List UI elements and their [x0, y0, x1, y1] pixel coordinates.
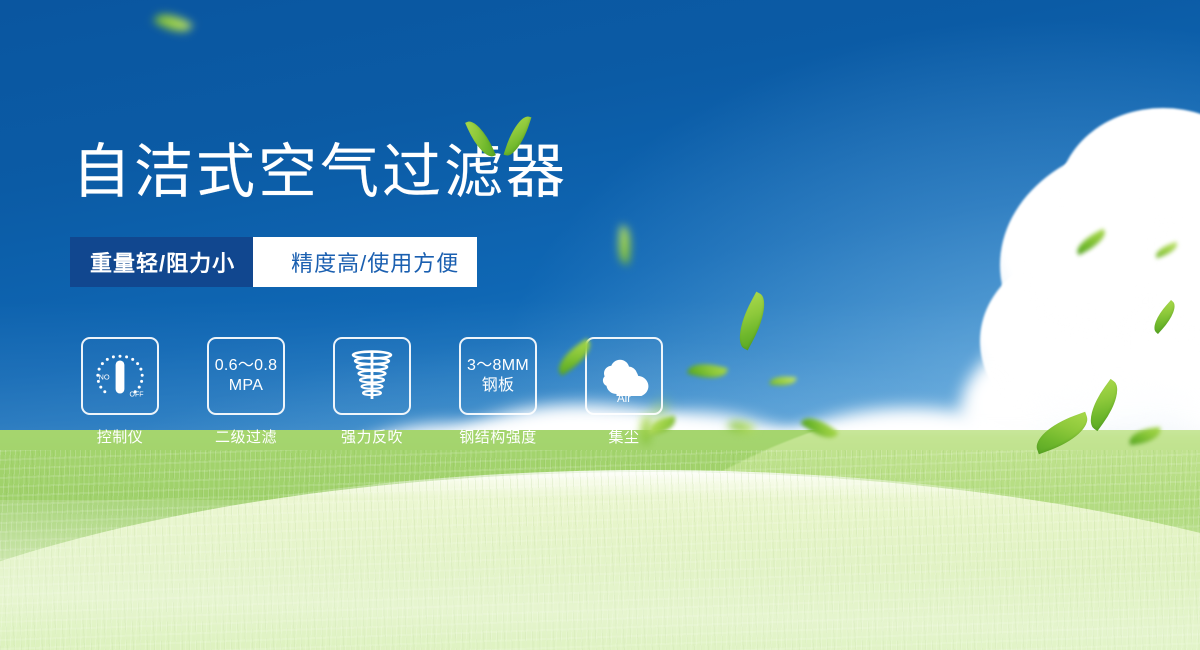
feature-icon-box: Air [585, 337, 663, 415]
tagline-divider [253, 237, 283, 287]
feature-icon-box: NO OFF [81, 337, 159, 415]
feature-box-line2: 钢板 [467, 376, 529, 396]
feature-box-line2: MPA [215, 376, 278, 396]
air-label: Air [617, 393, 631, 405]
feature-icon-box: 3～8MM 钢板 [459, 337, 537, 415]
dial-gauge-icon: NO OFF [89, 345, 151, 407]
feature-caption: 钢结构强度 [459, 426, 537, 447]
tagline-left: 重量轻/阻力小 [70, 237, 253, 287]
cloud-air-icon: Air [592, 347, 656, 405]
feature-caption: 强力反吹 [341, 426, 403, 447]
dial-on-label: NO [99, 373, 110, 382]
dial-off-label: OFF [130, 392, 144, 399]
feature-item-controller[interactable]: NO OFF 控制仪 [81, 337, 159, 447]
page-title: 自洁式空气过滤器 [72, 143, 568, 202]
feature-item-steel-strength[interactable]: 3～8MM 钢板 钢结构强度 [459, 337, 537, 447]
tagline-bar: 重量轻/阻力小 精度高/使用方便 [70, 237, 477, 287]
feature-caption: 二级过滤 [215, 426, 277, 447]
feature-item-pulse-blowback[interactable]: 强力反吹 [333, 337, 411, 447]
feature-icon-box [333, 337, 411, 415]
product-banner: 自洁式空气过滤器 重量轻/阻力小 精度高/使用方便 [0, 0, 1200, 650]
feature-caption: 控制仪 [97, 426, 144, 447]
feature-item-dust-collection[interactable]: Air 集尘 [585, 337, 663, 447]
feature-box-line1: 3～8MM [467, 356, 529, 376]
coil-stack-icon [344, 347, 400, 405]
tagline-right: 精度高/使用方便 [283, 237, 477, 287]
feature-icon-box: 0.6～0.8 MPA [207, 337, 285, 415]
feature-list: NO OFF 控制仪 0.6～0.8 MPA 二级过滤 [81, 337, 663, 447]
banner-content: 自洁式空气过滤器 重量轻/阻力小 精度高/使用方便 [0, 0, 1200, 650]
steel-plate-text-icon: 3～8MM 钢板 [467, 356, 529, 396]
pressure-text-icon: 0.6～0.8 MPA [215, 356, 278, 396]
feature-box-line1: 0.6～0.8 [215, 356, 278, 376]
feature-caption: 集尘 [608, 426, 639, 447]
feature-item-two-stage-filter[interactable]: 0.6～0.8 MPA 二级过滤 [207, 337, 285, 447]
